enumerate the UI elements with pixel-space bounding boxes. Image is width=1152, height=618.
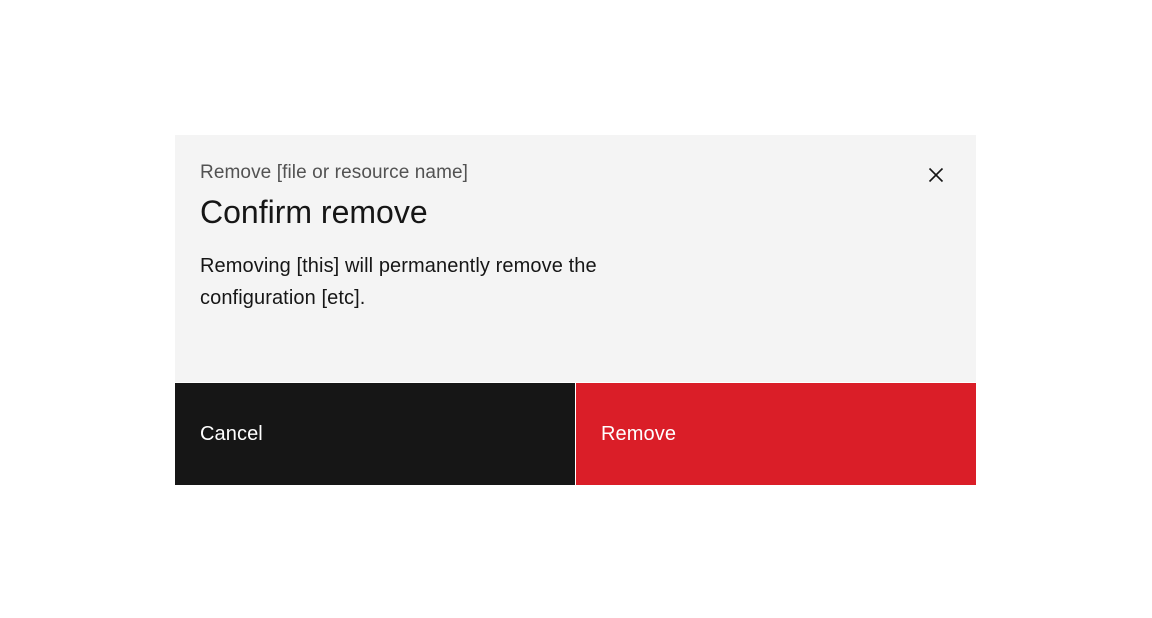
modal-label: Remove [file or resource name] — [200, 160, 956, 186]
close-icon — [925, 164, 947, 186]
modal-body-text: Removing [this] will permanently remove … — [200, 250, 670, 314]
modal-footer: Cancel Remove — [175, 383, 976, 485]
remove-button[interactable]: Remove — [576, 383, 976, 485]
confirm-remove-modal: Remove [file or resource name] Confirm r… — [175, 135, 976, 485]
page-background: Remove [file or resource name] Confirm r… — [0, 0, 1152, 618]
cancel-button[interactable]: Cancel — [175, 383, 575, 485]
modal-body: Remove [file or resource name] Confirm r… — [175, 135, 976, 382]
close-button[interactable] — [896, 135, 976, 215]
modal-heading: Confirm remove — [200, 191, 956, 233]
